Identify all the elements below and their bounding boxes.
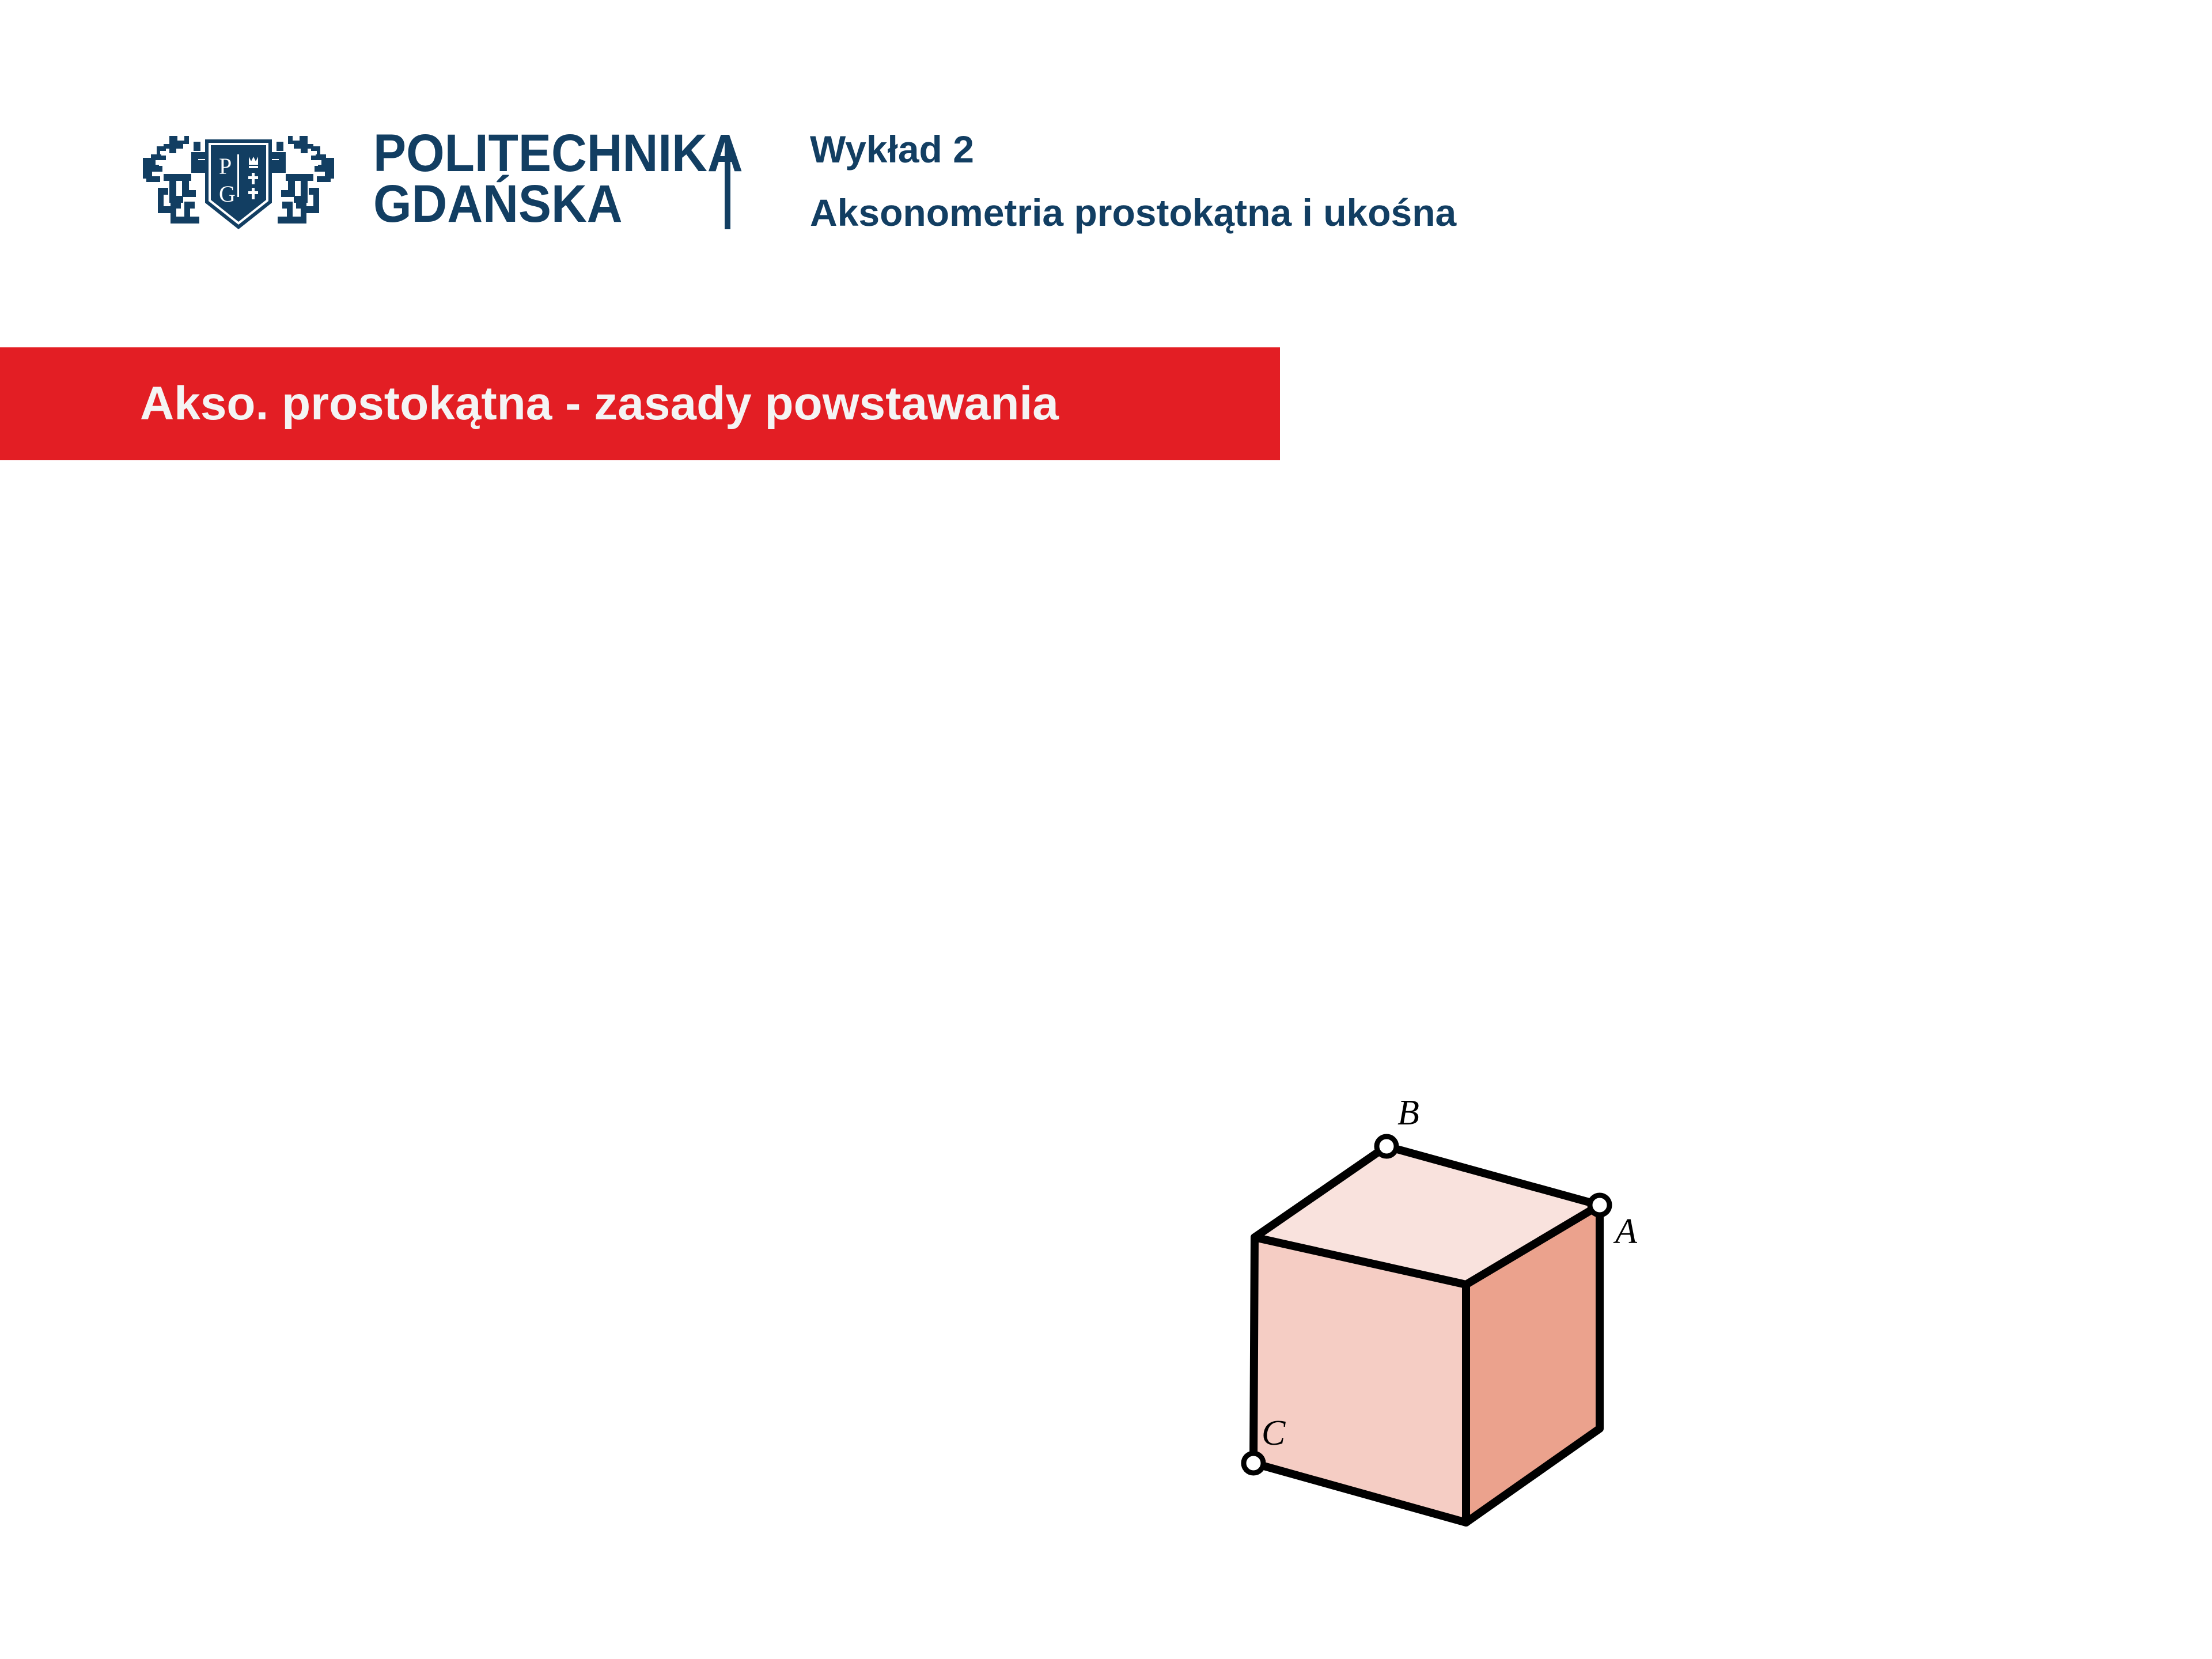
vertex-marker-b bbox=[1377, 1137, 1396, 1156]
section-title-text: Akso. prostokątna - zasady powstawania bbox=[140, 380, 1059, 427]
slide-header: P G POLITECHNIKA GDAŃSKA Wykład 2 Aksono… bbox=[0, 0, 2212, 300]
lion-right-icon bbox=[266, 136, 334, 224]
section-title-banner: Akso. prostokątna - zasady powstawania bbox=[0, 347, 1280, 460]
vertex-label-b: B bbox=[1397, 1094, 1419, 1132]
lecture-number: Wykład 2 bbox=[810, 128, 1456, 171]
vertex-label-c: C bbox=[1262, 1414, 1286, 1453]
pg-wordmark: POLITECHNIKA GDAŃSKA bbox=[373, 128, 673, 229]
isometric-cube-figure: B A C bbox=[1198, 1094, 1717, 1590]
header-divider bbox=[725, 138, 730, 229]
lecture-heading-block: Wykład 2 Aksonometria prostokątna i ukoś… bbox=[810, 128, 1456, 234]
pg-wordmark-line-2: GDAŃSKA bbox=[373, 179, 673, 229]
vertex-marker-a bbox=[1590, 1195, 1609, 1215]
shield-letter-g: G bbox=[219, 181, 236, 207]
lecture-title: Aksonometria prostokątna i ukośna bbox=[810, 191, 1456, 234]
vertex-label-a: A bbox=[1613, 1212, 1638, 1251]
pg-wordmark-line-1: POLITECHNIKA bbox=[373, 128, 673, 179]
pg-coat-of-arms-logo: P G bbox=[134, 121, 343, 234]
vertex-marker-c bbox=[1244, 1453, 1263, 1473]
lion-left-icon bbox=[143, 136, 211, 224]
shield-letter-p: P bbox=[219, 153, 232, 179]
